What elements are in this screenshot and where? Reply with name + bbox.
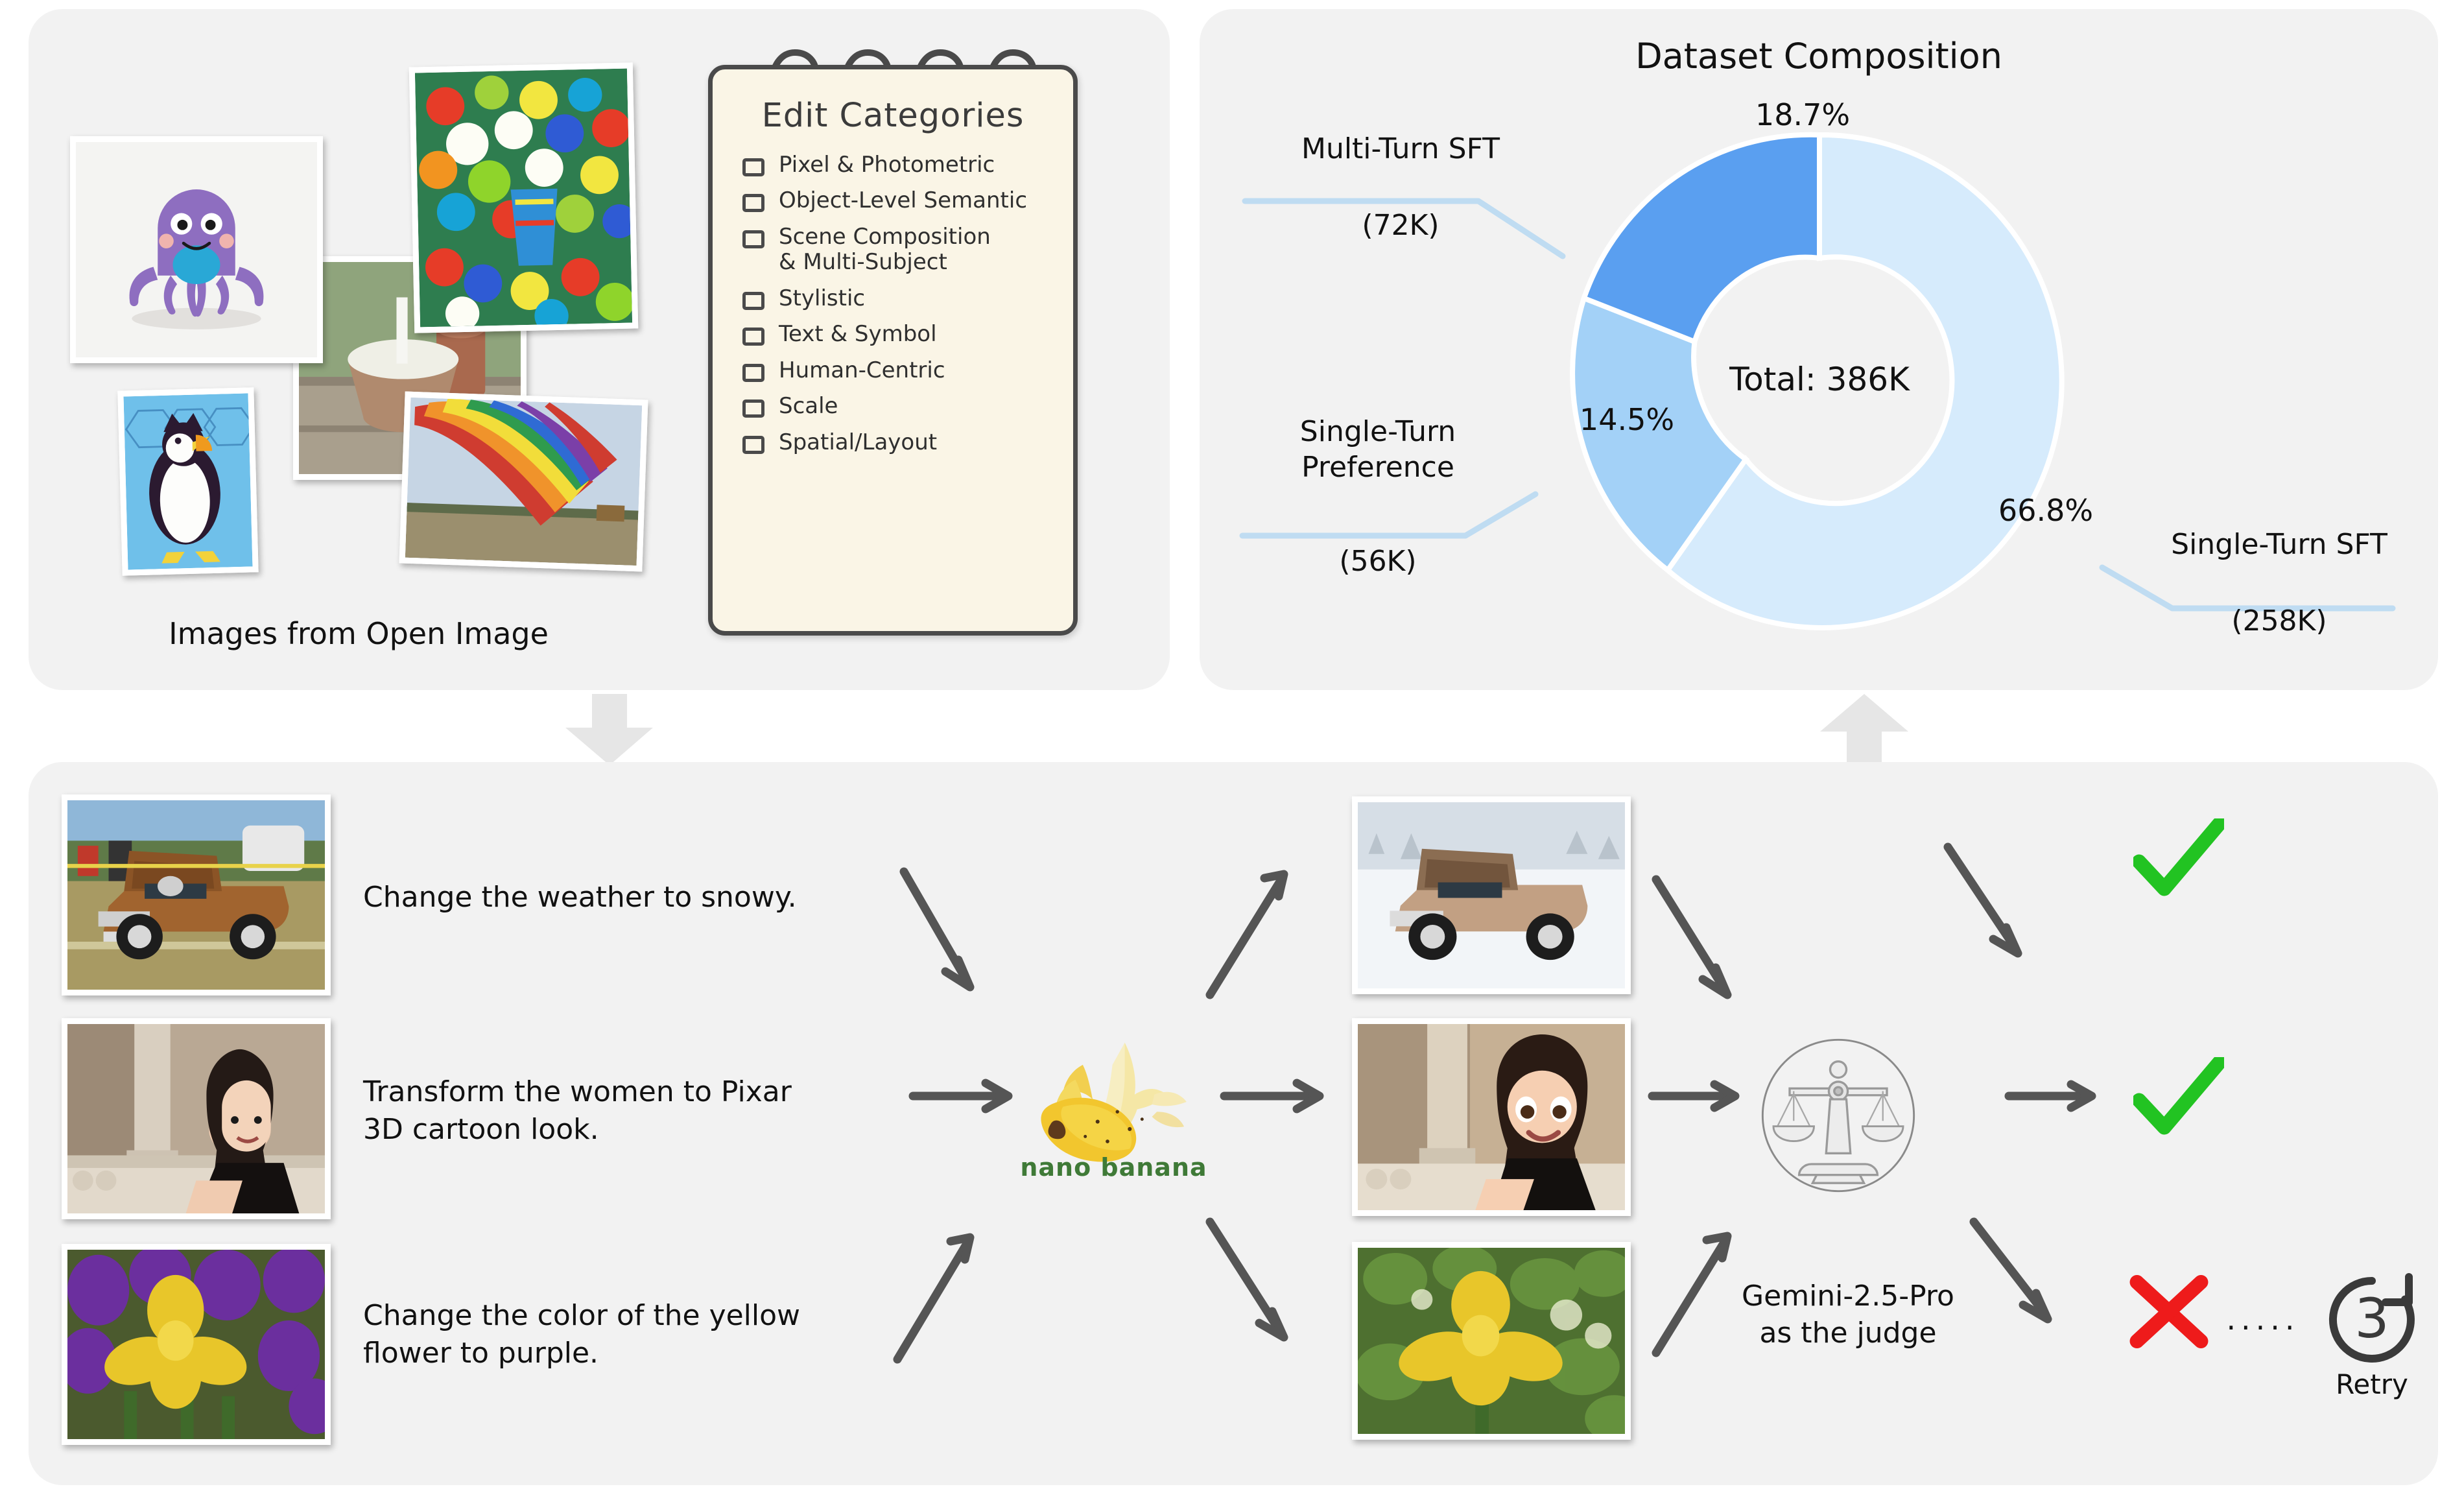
car-at-show-art xyxy=(67,800,325,990)
nano-banana-logo-icon xyxy=(1031,1038,1196,1167)
fail-cross-icon-row-3 xyxy=(2127,1271,2211,1352)
floral-painting-art xyxy=(415,69,632,328)
prompt-text-row-1: Change the weather to snowy. xyxy=(363,879,895,916)
leader-line-single-turn-sft xyxy=(2102,567,2393,608)
prompt-text-row-3: Change the color of the yellow flower to… xyxy=(363,1297,895,1372)
category-label: Scene Composition & Multi-Subject xyxy=(779,224,991,276)
category-label: Stylistic xyxy=(779,286,865,311)
checkbox-icon[interactable] xyxy=(742,436,764,454)
category-item[interactable]: Spatial/Layout xyxy=(742,430,1073,455)
model-name-label: nano banana xyxy=(1002,1153,1226,1182)
octopus-plush-photo xyxy=(70,136,323,363)
category-item[interactable]: Text & Symbol xyxy=(742,322,1073,347)
penguin-illustration-art xyxy=(124,394,253,570)
checkbox-icon[interactable] xyxy=(742,292,764,310)
category-label: Text & Symbol xyxy=(779,322,937,347)
checkbox-icon[interactable] xyxy=(742,328,764,346)
edit-categories-notepad: Edit Categories Pixel & Photometric Obje… xyxy=(708,65,1078,636)
edit-categories-list: Pixel & Photometric Object-Level Semanti… xyxy=(742,152,1073,466)
arrow-prompt3-to-model-icon xyxy=(888,1219,1050,1433)
connector-arrow-up-icon xyxy=(1803,694,1926,765)
connector-arrow-down-icon xyxy=(548,694,671,765)
donut-label-single-turn-sft: Single-Turn SFT xyxy=(2120,527,2438,562)
donut-leader-lines xyxy=(1200,9,2438,690)
arrow-output2-to-judge-icon xyxy=(1647,1077,1744,1115)
category-label: Human-Centric xyxy=(779,358,945,383)
donut-label-multi-turn-sft: Multi-Turn SFT xyxy=(1251,131,1550,167)
pass-checkmark-icon-row-1 xyxy=(2133,818,2224,900)
category-item[interactable]: Stylistic xyxy=(742,286,1073,311)
pipeline-output-image-car-snowy xyxy=(1352,796,1631,994)
checkbox-icon[interactable] xyxy=(742,158,764,176)
pass-checkmark-icon-row-2 xyxy=(2133,1057,2224,1138)
arrow-judge-to-pass2-icon xyxy=(2004,1077,2101,1115)
source-images-caption: Images from Open Image xyxy=(70,616,647,651)
checkbox-icon[interactable] xyxy=(742,194,764,212)
hot-air-balloon-photo xyxy=(399,392,648,572)
arrow-model-to-output2-icon xyxy=(1219,1077,1329,1115)
penguin-illustration-photo xyxy=(117,387,258,575)
donut-count-multi-turn-sft: (72K) xyxy=(1251,208,1550,243)
octopus-plush-art xyxy=(76,142,317,357)
category-label: Spatial/Layout xyxy=(779,430,937,455)
arrow-model-to-output1-icon xyxy=(1200,863,1362,1077)
category-item[interactable]: Object-Level Semantic xyxy=(742,188,1073,213)
leader-line-single-turn-preference xyxy=(1242,494,1535,536)
category-label: Object-Level Semantic xyxy=(779,188,1027,213)
arrow-judge-to-pass1-icon xyxy=(1939,837,2088,1031)
arrow-judge-to-fail-icon xyxy=(1965,1213,2114,1381)
prompt-text-row-2: Transform the women to Pixar 3D cartoon … xyxy=(363,1073,895,1149)
category-item[interactable]: Scene Composition & Multi-Subject xyxy=(742,224,1073,276)
donut-label-single-turn-preference: Single-Turn Preference xyxy=(1248,414,1508,485)
balance-scales-judge-icon xyxy=(1757,1034,1919,1197)
checkbox-icon[interactable] xyxy=(742,364,764,382)
woman-portrait-art xyxy=(67,1024,325,1213)
pipeline-source-image-flower xyxy=(62,1244,331,1445)
category-item[interactable]: Human-Centric xyxy=(742,358,1073,383)
hot-air-balloon-art xyxy=(405,398,642,566)
pipeline-source-image-car xyxy=(62,794,331,995)
donut-count-single-turn-preference: (56K) xyxy=(1248,543,1508,579)
pixar-woman-art xyxy=(1358,1024,1625,1210)
checkbox-icon[interactable] xyxy=(742,399,764,418)
figure-root: Images from Open Image Edit Categories P… xyxy=(0,0,2464,1502)
checkbox-icon[interactable] xyxy=(742,230,764,248)
retry-circular-arrow-icon[interactable]: 3 xyxy=(2323,1271,2421,1368)
retry-count-text: 3 xyxy=(2354,1287,2389,1350)
pipeline-output-image-woman-pixar xyxy=(1352,1018,1631,1216)
iris-flower-art xyxy=(67,1250,325,1439)
yellow-iris-green-bg-art xyxy=(1358,1248,1625,1434)
donut-count-single-turn-sft: (258K) xyxy=(2120,603,2438,639)
arrow-model-to-output3-icon xyxy=(1200,1206,1362,1420)
category-item[interactable]: Pixel & Photometric xyxy=(742,152,1073,178)
pipeline-output-image-flower-unchanged xyxy=(1352,1242,1631,1440)
notepad-title: Edit Categories xyxy=(713,97,1073,135)
category-label: Pixel & Photometric xyxy=(779,152,995,178)
retry-dotted-connector: ····· xyxy=(2218,1310,2308,1345)
car-in-snow-art xyxy=(1358,802,1625,988)
judge-model-label: Gemini-2.5-Pro as the judge xyxy=(1686,1278,2010,1352)
pipeline-source-image-woman xyxy=(62,1018,331,1219)
retry-label: Retry xyxy=(2301,1368,2443,1400)
floral-painting-photo xyxy=(409,62,639,333)
arrow-prompt2-to-model-icon xyxy=(908,1077,1018,1115)
category-item[interactable]: Scale xyxy=(742,394,1073,419)
category-label: Scale xyxy=(779,394,838,419)
